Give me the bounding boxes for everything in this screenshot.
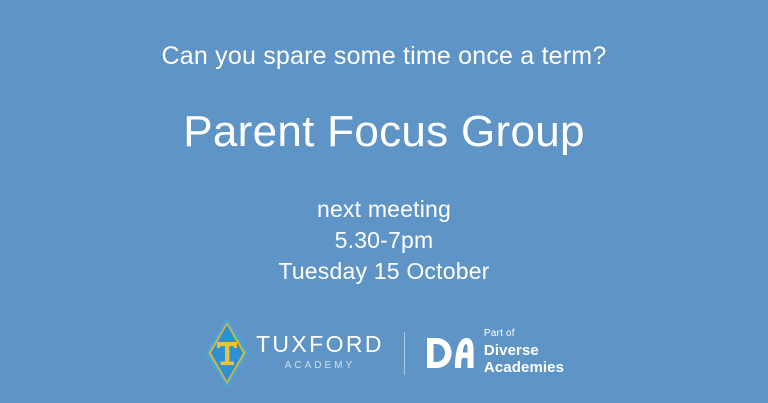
detail-line-next-meeting: next meeting [0,198,768,221]
diverse-academies-wordmark: Part of Diverse Academies [484,329,564,377]
tuxford-academy-logo: TUXFORD ACADEMY [204,317,384,389]
logo-bar: TUXFORD ACADEMY Part of Diverse Academie… [0,317,768,389]
tuxford-name: TUXFORD [256,333,384,356]
logo-divider [404,332,405,375]
meeting-details: next meeting 5.30-7pm Tuesday 15 October [0,198,768,283]
poster-canvas: Can you spare some time once a term? Par… [0,0,768,403]
page-title: Parent Focus Group [0,107,768,158]
detail-line-date: Tuesday 15 October [0,260,768,283]
tuxford-wordmark: TUXFORD ACADEMY [256,333,384,373]
tuxford-diamond-icon [204,317,250,389]
part-of-label: Part of [484,329,515,339]
detail-line-time: 5.30-7pm [0,229,768,252]
diverse-academies-name-line1: Diverse [484,343,539,360]
diverse-academies-name-line2: Academies [484,360,564,377]
diverse-academies-da-icon [425,336,475,370]
headline-question: Can you spare some time once a term? [0,43,768,71]
tuxford-subtitle: ACADEMY [285,361,355,371]
diverse-academies-logo: Part of Diverse Academies [425,317,564,389]
